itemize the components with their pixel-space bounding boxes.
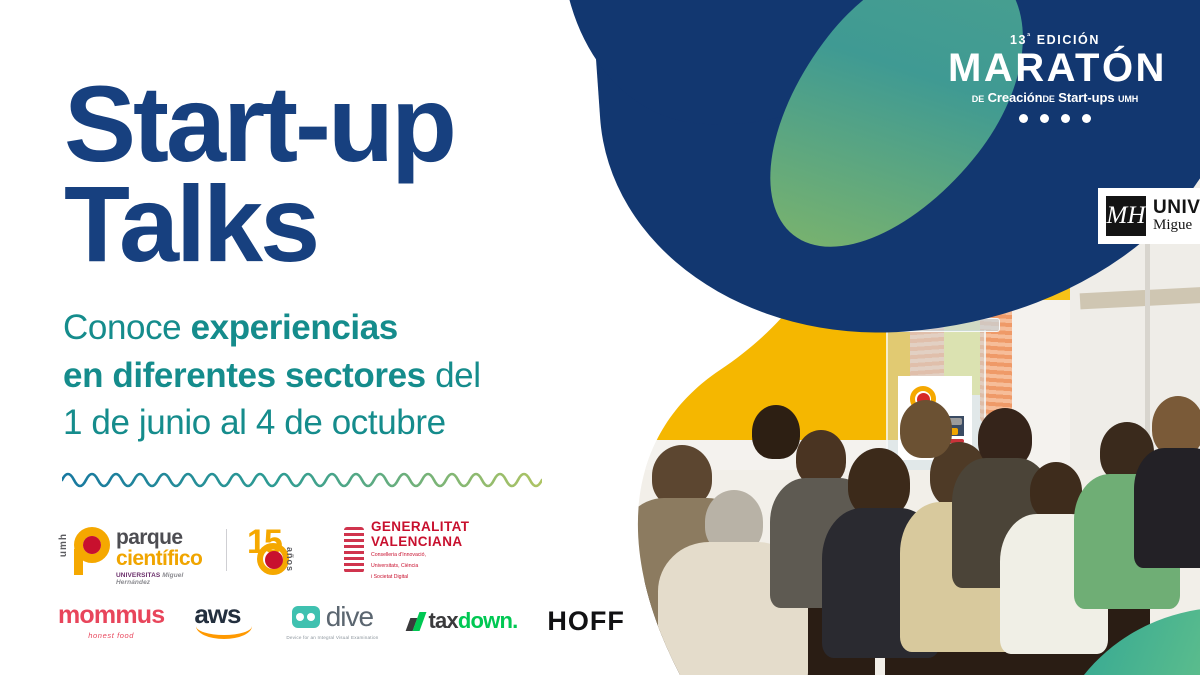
parque-text-block: parque científico UNIVERSITAS Miguel Her… bbox=[116, 527, 208, 586]
generalitat-line-1: GENERALITAT bbox=[371, 519, 469, 534]
sponsor-logo-parque-cientifico: umh parque científico UNIVERSITAS Miguel… bbox=[58, 521, 208, 579]
audience-group bbox=[600, 430, 1200, 675]
maraton-umh: UMH bbox=[1118, 94, 1138, 104]
sponsor-logo-generalitat-valenciana: GENERALITAT VALENCIANA Conselleria d'Inn… bbox=[344, 522, 524, 578]
sponsor-divider bbox=[226, 529, 227, 571]
parque-dot-icon bbox=[83, 536, 101, 554]
umh-miguel-line: Migue bbox=[1153, 217, 1200, 234]
dot-icon bbox=[1061, 114, 1070, 123]
support-pole bbox=[1145, 240, 1150, 440]
taxdown-stroke-2 bbox=[413, 612, 427, 631]
sponsor-logo-15-anios: 15 años bbox=[245, 521, 307, 579]
sponsor-logo-aws: aws bbox=[194, 601, 256, 641]
maraton-startups: Start-ups bbox=[1058, 90, 1114, 105]
cientifico-word: científico bbox=[116, 548, 208, 570]
sponsor-row-institutional: umh parque científico UNIVERSITAS Miguel… bbox=[58, 518, 524, 582]
audience-head bbox=[900, 400, 952, 458]
dive-eye-right-icon bbox=[307, 613, 315, 621]
umh-logo-text: UNIV Migue bbox=[1153, 198, 1200, 234]
mommus-tagline: honest food bbox=[58, 631, 164, 640]
maraton-edition-line: 13ª EDICIÓN bbox=[948, 32, 1162, 47]
anios-dot-icon bbox=[265, 551, 283, 569]
sponsor-logo-dive: dive Device for an Integral Visual Exami… bbox=[286, 603, 378, 640]
umh-universitas-line: UNIV bbox=[1153, 198, 1200, 217]
umh-monogram-icon: MH bbox=[1106, 196, 1146, 236]
parque-tagline: UNIVERSITAS Miguel Hernández bbox=[116, 572, 208, 586]
audience-head bbox=[1152, 396, 1200, 456]
poster-canvas: 13ª EDICIÓN MARATÓN DE CreaciónDE Start-… bbox=[0, 0, 1200, 675]
page-title: Start-up Talks bbox=[64, 74, 604, 275]
sponsor-logo-mommus: mommus honest food bbox=[58, 603, 164, 640]
generalitat-sub-3: i Societat Digital bbox=[371, 574, 469, 582]
sponsor-logo-taxdown: taxdown. bbox=[408, 610, 517, 632]
dive-eye-left-icon bbox=[296, 613, 304, 621]
subtitle-experiencias: experiencias bbox=[191, 308, 398, 347]
maraton-de-2: DE bbox=[1042, 94, 1054, 104]
maraton-dots-decoration bbox=[948, 114, 1162, 123]
umh-monogram-text: MH bbox=[1106, 196, 1146, 236]
taxdown-check-icon bbox=[408, 612, 423, 631]
dive-logo-row: dive bbox=[292, 603, 373, 631]
dot-icon bbox=[1082, 114, 1091, 123]
generalitat-shield-icon bbox=[344, 527, 364, 573]
taxdown-tax: tax bbox=[428, 608, 457, 633]
generalitat-text-block: GENERALITAT VALENCIANA Conselleria d'Inn… bbox=[371, 519, 469, 582]
title-line-2: Talks bbox=[64, 174, 604, 274]
umh-university-logo: MH UNIV Migue bbox=[1098, 188, 1200, 244]
maraton-logo: 13ª EDICIÓN MARATÓN DE CreaciónDE Start-… bbox=[948, 32, 1162, 123]
subtitle-line-1: Conoce experiencias bbox=[63, 304, 603, 352]
maraton-creacion: Creación bbox=[988, 90, 1043, 105]
subtitle-line-3: 1 de junio al 4 de octubre bbox=[63, 399, 603, 447]
maraton-de-1: DE bbox=[972, 94, 984, 104]
mommus-word: mommus bbox=[58, 603, 164, 628]
parque-universitas: UNIVERSITAS bbox=[116, 572, 162, 579]
maraton-title: MARATÓN bbox=[948, 48, 1162, 89]
dive-word: dive bbox=[326, 603, 373, 631]
subtitle-conoce: Conoce bbox=[63, 308, 191, 347]
taxdown-down: down. bbox=[458, 608, 518, 633]
audience-head bbox=[752, 405, 800, 459]
subtitle-sectores: en diferentes sectores bbox=[63, 356, 426, 395]
dive-tagline: Device for an Integral Visual Examinatio… bbox=[286, 635, 378, 640]
maraton-subtitle: DE CreaciónDE Start-ups UMH bbox=[948, 90, 1162, 105]
dot-icon bbox=[1019, 114, 1028, 123]
sponsor-row-partners: mommus honest food aws dive Device for a… bbox=[58, 596, 625, 646]
aws-smile-icon bbox=[196, 626, 252, 639]
subtitle-del: del bbox=[426, 356, 481, 395]
generalitat-sub-2: Universitats, Ciència bbox=[371, 563, 469, 571]
generalitat-sub-1: Conselleria d'Innovació, bbox=[371, 552, 469, 560]
wavy-divider-icon bbox=[62, 462, 542, 490]
anios-word: años bbox=[285, 547, 295, 572]
taxdown-word: taxdown. bbox=[428, 610, 517, 632]
parque-p-icon bbox=[70, 527, 110, 573]
dive-goggles-icon bbox=[292, 606, 320, 628]
parque-stem-icon bbox=[74, 549, 83, 575]
audience-torso bbox=[1134, 448, 1200, 568]
sponsor-logo-hoff: HOFF bbox=[547, 606, 625, 637]
subtitle-line-2: en diferentes sectores del bbox=[63, 352, 603, 400]
generalitat-line-2: VALENCIANA bbox=[371, 534, 469, 549]
subtitle-block: Conoce experiencias en diferentes sector… bbox=[63, 304, 603, 447]
aws-word: aws bbox=[194, 601, 256, 627]
parque-word: parque bbox=[116, 527, 208, 548]
parque-umh-label: umh bbox=[58, 533, 69, 557]
dot-icon bbox=[1040, 114, 1049, 123]
